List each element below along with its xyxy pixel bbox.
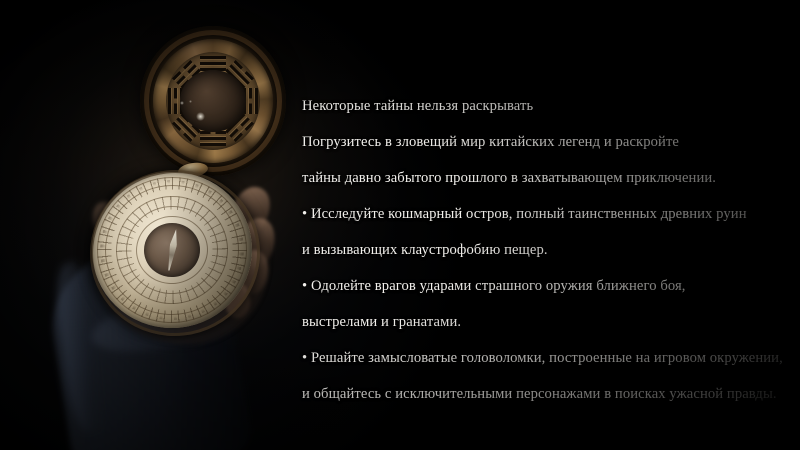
lid-glint [189, 100, 192, 103]
lid-glint [196, 112, 205, 121]
screenshot-root: Некоторые тайны нельзя раскрывать Погруз… [0, 0, 800, 450]
description-text-block: Некоторые тайны нельзя раскрывать Погруз… [302, 88, 788, 412]
description-line: и общайтесь с исключительными персонажам… [302, 376, 788, 412]
compass-needle [165, 229, 179, 272]
lid-glint [180, 101, 184, 105]
description-line: Некоторые тайны нельзя раскрывать [302, 88, 788, 124]
description-line: • Решайте замысловатые головоломки, пост… [302, 340, 788, 376]
description-line: тайны давно забытого прошлого в захватыв… [302, 160, 788, 196]
bagua-trigram-lid [140, 26, 286, 176]
description-line: и вызывающих клаустрофобию пещер. [302, 232, 788, 268]
description-line: Погрузитесь в зловещий мир китайских лег… [302, 124, 788, 160]
lid-rim [144, 30, 282, 172]
description-line: • Исследуйте кошмарный остров, полный та… [302, 196, 788, 232]
description-line: выстрелами и гранатами. [302, 304, 788, 340]
description-line: • Одолейте врагов ударами страшного оруж… [302, 268, 788, 304]
